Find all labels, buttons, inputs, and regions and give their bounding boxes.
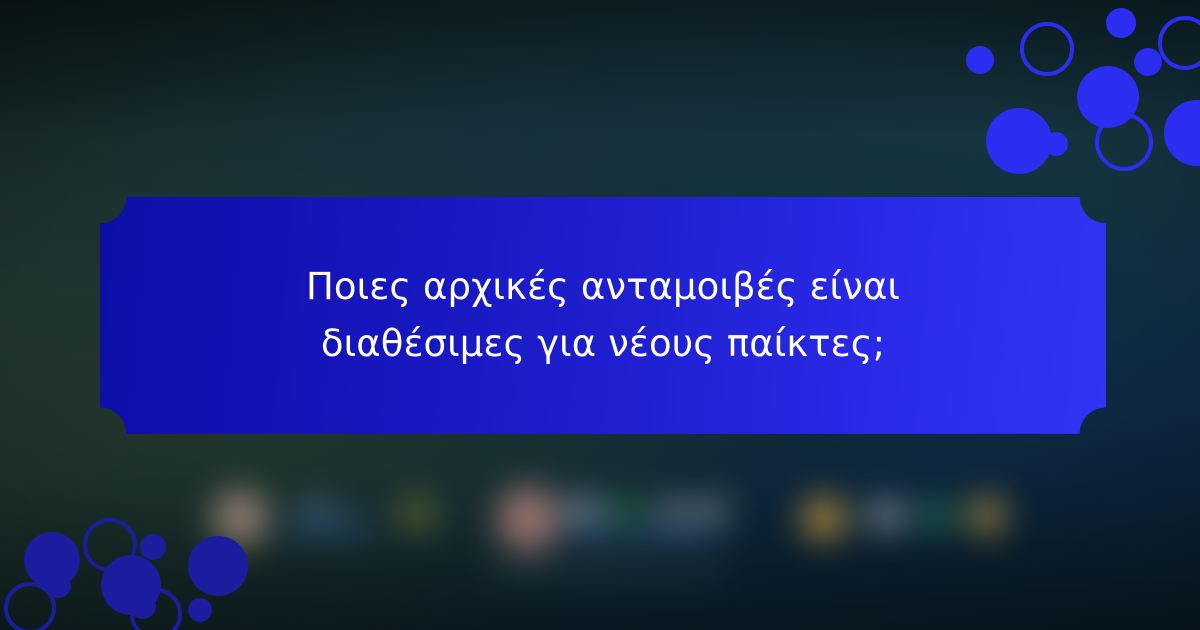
top-right-dots-decoration xyxy=(950,0,1200,170)
circle-outline-icon xyxy=(1020,22,1074,76)
circle-filled-icon xyxy=(188,598,212,622)
circle-filled-icon xyxy=(1134,48,1162,76)
bottom-left-dots-decoration xyxy=(0,510,230,630)
circle-outline-icon xyxy=(1158,16,1200,70)
circle-filled-icon xyxy=(1044,132,1068,156)
question-text: Ποιες αρχικές ανταμοιβές είναι διαθέσιμε… xyxy=(149,259,1057,371)
circle-outline-icon xyxy=(1095,113,1153,171)
circle-filled-icon xyxy=(188,536,248,596)
circle-filled-icon xyxy=(1106,8,1136,38)
banner-screenshot: Ποιες αρχικές ανταμοιβές είναι διαθέσιμε… xyxy=(0,0,1200,630)
circle-filled-icon xyxy=(966,46,994,74)
circle-filled-icon xyxy=(140,534,166,560)
circle-outline-icon xyxy=(130,588,182,630)
circle-filled-icon xyxy=(1164,100,1200,166)
question-banner-card: Ποιες αρχικές ανταμοιβές είναι διαθέσιμε… xyxy=(100,197,1106,434)
circle-filled-icon xyxy=(986,108,1052,174)
circle-outline-icon xyxy=(4,582,56,630)
